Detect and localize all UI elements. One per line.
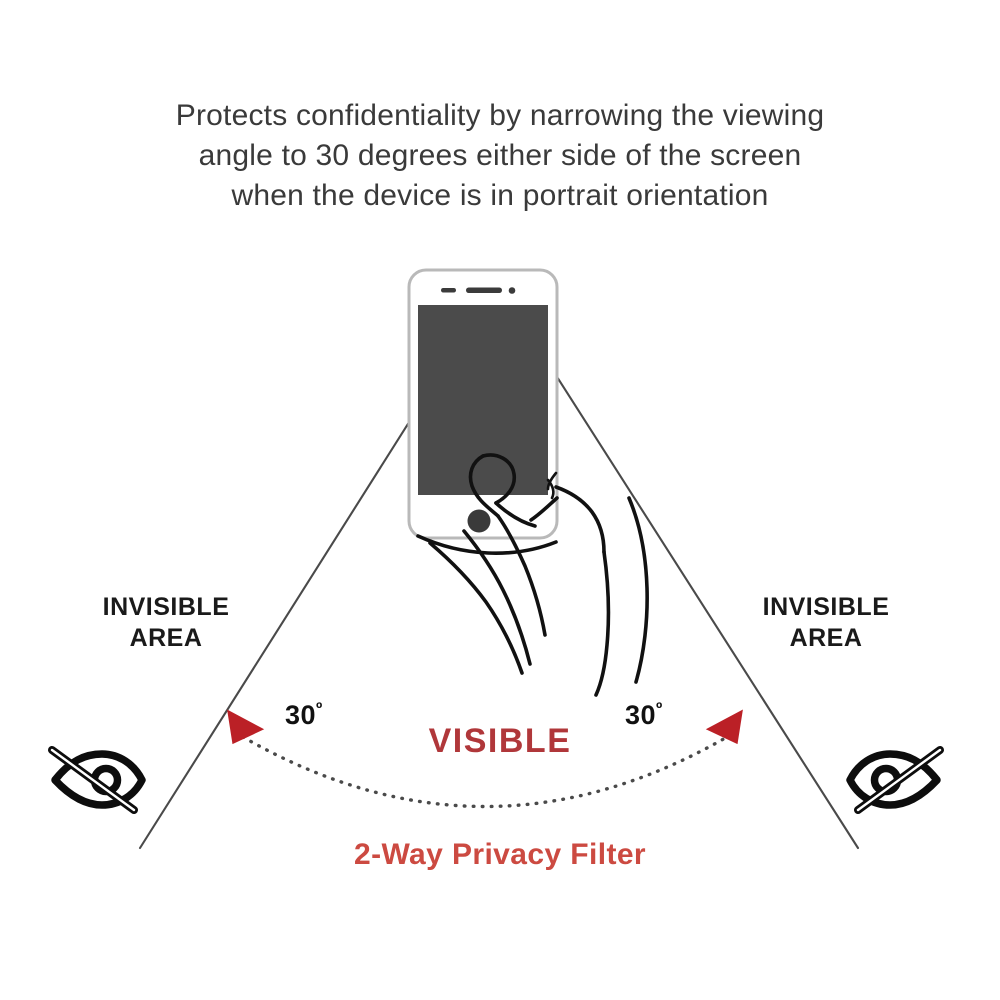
- visible-area-label: VISIBLE: [0, 722, 1000, 761]
- invisible-area-label-left: INVISIBLE AREA: [46, 592, 286, 654]
- smartphone-portrait-icon: [409, 270, 557, 538]
- invisible-area-label-right: INVISIBLE AREA: [706, 592, 946, 654]
- privacy-filter-diagram: Protects confidentiality by narrowing th…: [0, 0, 1000, 1000]
- degree-symbol-left: º: [316, 699, 323, 718]
- degree-symbol-right: º: [656, 699, 663, 718]
- product-caption: 2-Way Privacy Filter: [0, 838, 1000, 872]
